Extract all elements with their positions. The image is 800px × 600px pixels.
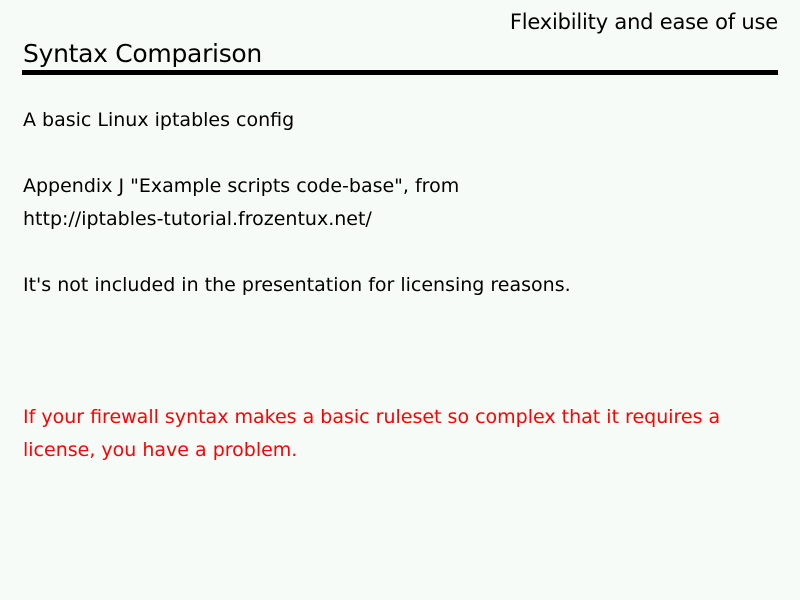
body-line-appendix: Appendix J "Example scripts code-base", … <box>23 170 780 203</box>
slide-content: A basic Linux iptables config Appendix J… <box>23 104 780 467</box>
slide: Flexibility and ease of use Syntax Compa… <box>0 0 800 600</box>
body-line-licensing: It's not included in the presentation fo… <box>23 269 780 302</box>
section-label: Flexibility and ease of use <box>510 9 778 35</box>
warning-statement: If your firewall syntax makes a basic ru… <box>23 401 768 467</box>
title-divider <box>22 70 778 75</box>
content-spacer <box>23 302 780 401</box>
body-line-config: A basic Linux iptables config <box>23 104 780 137</box>
page-title: Syntax Comparison <box>23 38 262 69</box>
body-line-url: http://iptables-tutorial.frozentux.net/ <box>23 203 780 236</box>
